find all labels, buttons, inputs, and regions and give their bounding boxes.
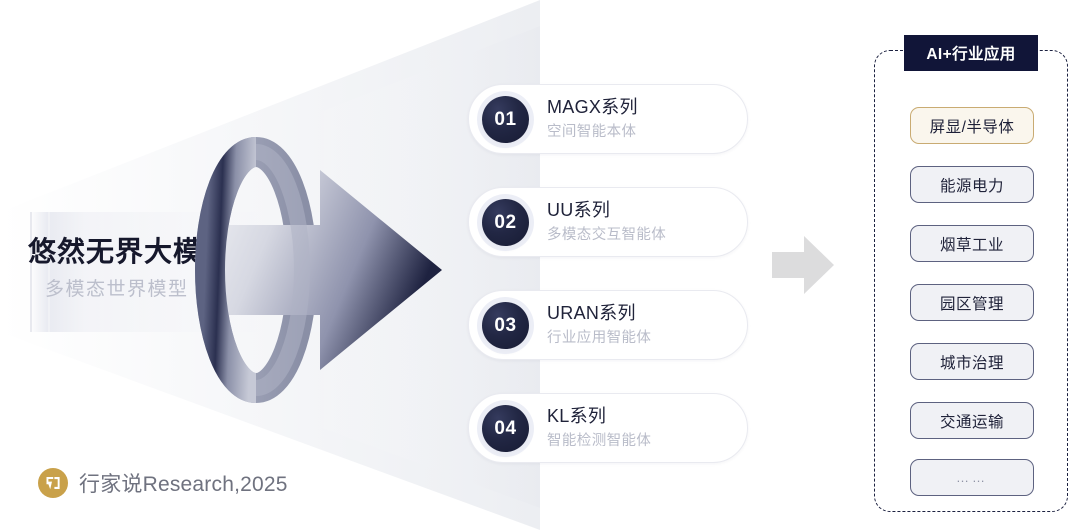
hero-subtitle: 多模态世界模型: [45, 274, 189, 301]
chip-label: 交通运输: [940, 410, 1004, 432]
industry-chip-screen-semiconductor[interactable]: 屏显/半导体: [910, 107, 1034, 144]
card-title: MAGX系列: [547, 96, 638, 119]
card-number-badge: 04: [482, 405, 529, 452]
chip-label: 烟草工业: [940, 233, 1004, 255]
card-title: KL系列: [547, 405, 651, 428]
card-number-badge: 02: [482, 199, 529, 246]
card-subtitle: 空间智能本体: [547, 121, 638, 143]
card-number: 03: [494, 315, 516, 337]
model-series-card[interactable]: 03 URAN系列 行业应用智能体: [468, 290, 748, 360]
industry-chip-urban-governance[interactable]: 城市治理: [910, 343, 1034, 380]
model-series-card[interactable]: 04 KL系列 智能检测智能体: [468, 393, 748, 463]
card-text-group: UU系列 多模态交互智能体: [547, 199, 666, 246]
chip-label: 园区管理: [940, 292, 1004, 314]
card-subtitle: 多模态交互智能体: [547, 224, 666, 246]
card-title: URAN系列: [547, 302, 651, 325]
industry-chip-transportation[interactable]: 交通运输: [910, 402, 1034, 439]
card-subtitle: 行业应用智能体: [547, 327, 651, 349]
card-title: UU系列: [547, 199, 666, 222]
card-subtitle: 智能检测智能体: [547, 430, 651, 452]
chip-label: 城市治理: [940, 351, 1004, 373]
hangjiashuo-logo-icon: [38, 468, 68, 498]
model-series-card-list: 01 MAGX系列 空间智能本体 02 UU系列 多模态交互智能体 03 URA…: [468, 84, 750, 464]
card-number-badge: 03: [482, 302, 529, 349]
right-arrow-icon: [772, 236, 834, 294]
model-series-card[interactable]: 01 MAGX系列 空间智能本体: [468, 84, 748, 154]
card-text-group: URAN系列 行业应用智能体: [547, 302, 651, 349]
footer-text: 行家说Research,2025: [79, 468, 288, 498]
card-number: 02: [494, 212, 516, 234]
card-number: 04: [494, 418, 516, 440]
footer-attribution: 行家说Research,2025: [38, 468, 288, 498]
card-text-group: KL系列 智能检测智能体: [547, 405, 651, 452]
industry-chip-park-management[interactable]: 园区管理: [910, 284, 1034, 321]
chip-label: ……: [956, 470, 988, 485]
model-series-card[interactable]: 02 UU系列 多模态交互智能体: [468, 187, 748, 257]
industry-chip-more[interactable]: ……: [910, 459, 1034, 496]
panel-title-label: AI+行业应用: [926, 42, 1015, 64]
torus-and-arrow-graphic: [170, 130, 460, 410]
industry-chip-energy-power[interactable]: 能源电力: [910, 166, 1034, 203]
chip-label: 屏显/半导体: [930, 115, 1015, 137]
chip-label: 能源电力: [940, 174, 1004, 196]
industry-chip-tobacco-industry[interactable]: 烟草工业: [910, 225, 1034, 262]
card-number: 01: [494, 109, 516, 131]
panel-title-badge: AI+行业应用: [904, 35, 1038, 71]
card-number-badge: 01: [482, 96, 529, 143]
slide-canvas: 悠然无界大模型 多模态世界模型: [0, 0, 1080, 530]
card-text-group: MAGX系列 空间智能本体: [547, 96, 638, 143]
